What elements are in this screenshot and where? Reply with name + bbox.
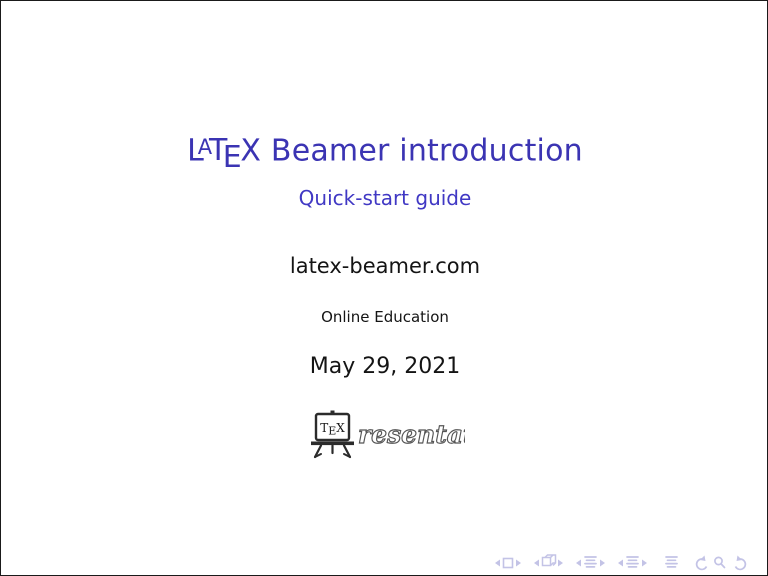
previous-slide-icon[interactable] <box>495 560 500 567</box>
page-title-rest: Beamer introduction <box>261 133 583 168</box>
navigation-symbols[interactable] <box>489 553 757 573</box>
previous-subsection-icon[interactable] <box>576 560 581 567</box>
next-frame-icon[interactable] <box>558 560 563 567</box>
current-subsection-icon[interactable] <box>585 557 596 567</box>
logo-board-t: T <box>320 421 328 435</box>
logo-script-text: resentations <box>358 420 465 449</box>
beamer-slide: LATEX Beamer introduction Quick-start gu… <box>0 0 768 576</box>
next-subsection-icon[interactable] <box>600 560 605 567</box>
previous-frame-icon[interactable] <box>534 560 539 567</box>
title-logo: TEX resentations <box>1 409 768 465</box>
current-frame-icon[interactable] <box>543 555 556 566</box>
current-slide-icon[interactable] <box>504 559 513 568</box>
next-section-icon[interactable] <box>642 560 647 567</box>
logo-board-e: E <box>328 425 336 438</box>
find-icon[interactable] <box>715 557 725 567</box>
current-section-icon[interactable] <box>627 557 638 567</box>
next-slide-icon[interactable] <box>516 560 521 567</box>
texresentations-logo-icon: TEX resentations <box>305 409 465 461</box>
latex-wordmark: LATEX <box>187 127 261 178</box>
previous-section-icon[interactable] <box>618 560 623 567</box>
back-icon[interactable] <box>697 556 707 570</box>
title-block: LATEX Beamer introduction Quick-start gu… <box>1 127 768 212</box>
forward-icon[interactable] <box>736 556 746 570</box>
logo-board-x: X <box>336 421 345 435</box>
author: latex-beamer.com <box>1 254 768 278</box>
document-icon[interactable] <box>666 557 677 567</box>
page-subtitle: Quick-start guide <box>1 184 768 212</box>
institute: Online Education <box>1 308 768 326</box>
latex-wordmark-x: X <box>240 133 261 168</box>
date: May 29, 2021 <box>1 354 768 379</box>
page-title: LATEX Beamer introduction <box>1 127 768 178</box>
